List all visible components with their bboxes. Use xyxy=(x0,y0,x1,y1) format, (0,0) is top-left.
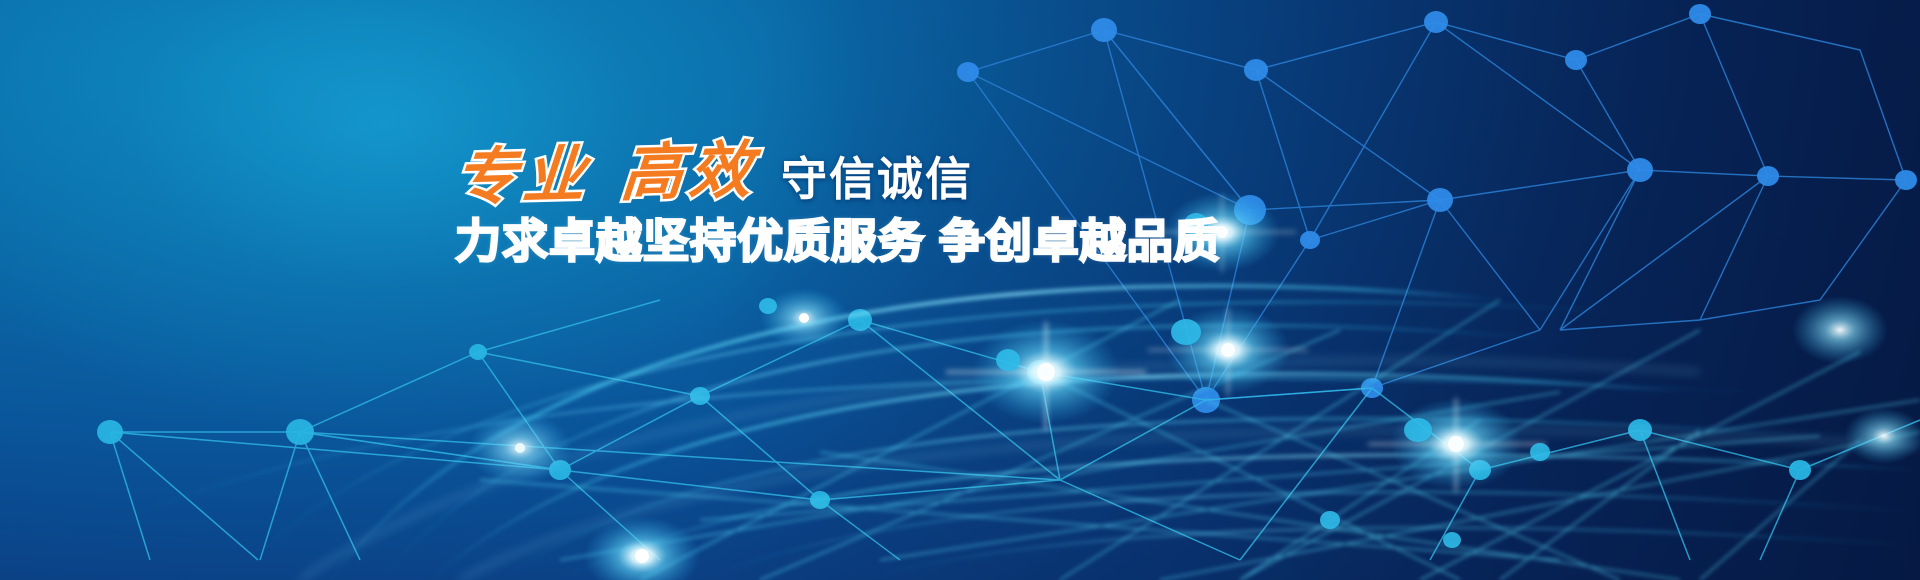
headline-block: 专业高效 守信诚信 力求卓越坚持优质服务 争创卓越品质 xyxy=(455,134,1155,267)
slogan-accent-part2: 高效 xyxy=(618,136,760,209)
glow-nodes xyxy=(0,0,1920,580)
headline-line-1: 专业高效 守信诚信 xyxy=(455,134,1155,206)
slogan-plain: 守信诚信 xyxy=(781,156,973,202)
slogan-accent: 专业高效 xyxy=(452,140,774,210)
promo-banner: 专业高效 守信诚信 力求卓越坚持优质服务 争创卓越品质 xyxy=(0,0,1920,580)
slogan-accent-part1: 专业 xyxy=(452,141,594,214)
headline-line-2: 力求卓越坚持优质服务 争创卓越品质 xyxy=(455,216,1155,267)
